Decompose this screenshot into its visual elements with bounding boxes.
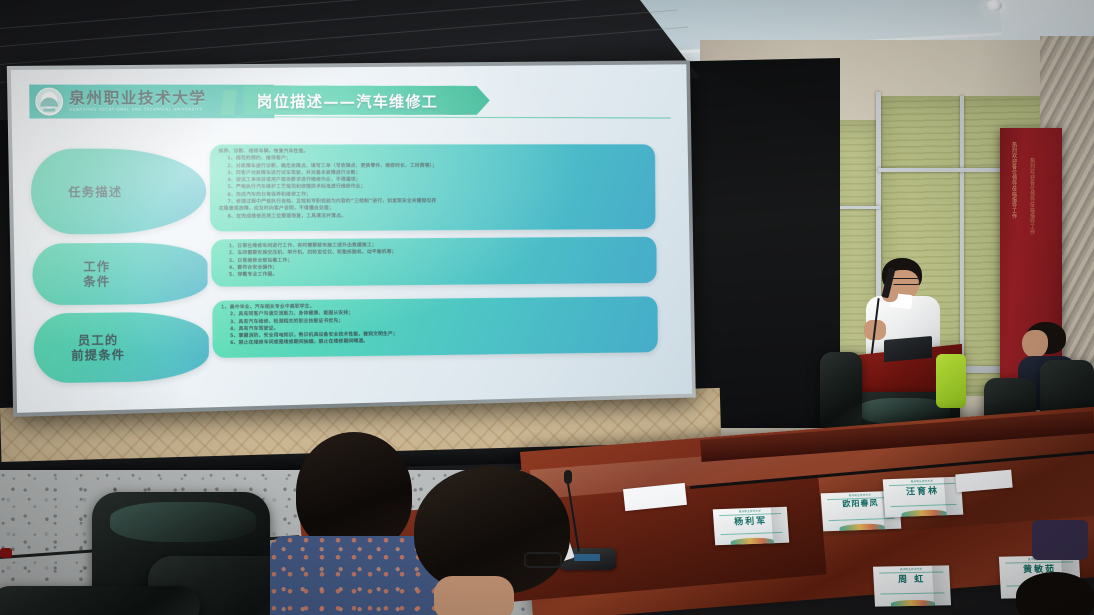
attendee-hair bbox=[296, 432, 412, 552]
projection-screen: 泉州职业技术大学 QUANZHOU VOCATIONAL AND TECHNIC… bbox=[7, 60, 696, 417]
chair bbox=[0, 586, 200, 615]
university-name-en: QUANZHOU VOCATIONAL AND TECHNICAL UNIVER… bbox=[69, 109, 206, 113]
nameplate-fold bbox=[770, 507, 789, 543]
content-line: 8、在完成维修后将工位整理恢复，工具清洁并清点。 bbox=[217, 211, 649, 220]
chair-green-cushion bbox=[936, 354, 966, 408]
content-employee-prerequisites: 1、高中毕业、汽车相关专业中高职学生。 2、具有同客户沟通交流能力、身体健康、能… bbox=[212, 296, 658, 358]
content-working-conditions: 1、日常在维修车间进行工作，有时需要就车施工或外出救援施工； 2、车间需要安装空… bbox=[211, 237, 657, 287]
attendee-face bbox=[1022, 330, 1048, 358]
attendee-hair bbox=[414, 466, 570, 594]
title-underline bbox=[234, 116, 671, 119]
attendee-hair bbox=[1016, 572, 1094, 615]
attendee-neck bbox=[434, 576, 514, 615]
banner-text: 热烈欢迎各位领导莅临指导工作 bbox=[1028, 158, 1035, 235]
nameplate: 泉州职业技术大学 周 虹 bbox=[873, 565, 951, 606]
slide-title: 岗位描述——汽车维修工 bbox=[257, 88, 438, 112]
attendee-front-right bbox=[1016, 572, 1094, 615]
content-task-description: 保养、诊断、维修车辆，恢复汽车性能。 1、规范的预约、维待客户； 2、对故障车进… bbox=[210, 144, 656, 231]
conference-room-photo: 热烈欢迎各位领导莅临指导工作 热烈欢迎各位领导莅临指导工作 泉州职业技术大学 Q… bbox=[0, 0, 1094, 615]
attendee-front-center bbox=[404, 466, 594, 615]
presenter-laptop bbox=[884, 336, 932, 362]
cable-connector bbox=[0, 548, 12, 558]
pill-task-description: 任务描述 bbox=[31, 149, 207, 235]
nameplate: 泉州职业技术大学 杨利军 bbox=[713, 507, 790, 545]
university-name-cn: 泉州职业技术大学 bbox=[69, 91, 207, 107]
university-seal-icon bbox=[35, 88, 63, 116]
nameplate-fold bbox=[932, 565, 951, 605]
attendee-glasses-icon bbox=[524, 552, 562, 568]
slide-title-banner: 岗位描述——汽车维修工 bbox=[243, 85, 490, 115]
university-logo-bar: 泉州职业技术大学 QUANZHOU VOCATIONAL AND TECHNIC… bbox=[29, 85, 274, 119]
chair bbox=[820, 352, 862, 430]
downlight-icon bbox=[986, 0, 1002, 11]
pill-working-conditions: 工作条件 bbox=[32, 242, 207, 305]
bag-on-chair bbox=[1032, 520, 1088, 560]
nameplate: 泉州职业技术大学 汪育林 bbox=[883, 477, 964, 518]
chair-highlight bbox=[110, 502, 256, 542]
slide-canvas: 泉州职业技术大学 QUANZHOU VOCATIONAL AND TECHNIC… bbox=[11, 64, 692, 413]
banner-text: 热烈欢迎各位领导莅临指导工作 bbox=[1010, 142, 1017, 219]
pill-employee-prerequisites: 员工的前提条件 bbox=[34, 312, 209, 384]
